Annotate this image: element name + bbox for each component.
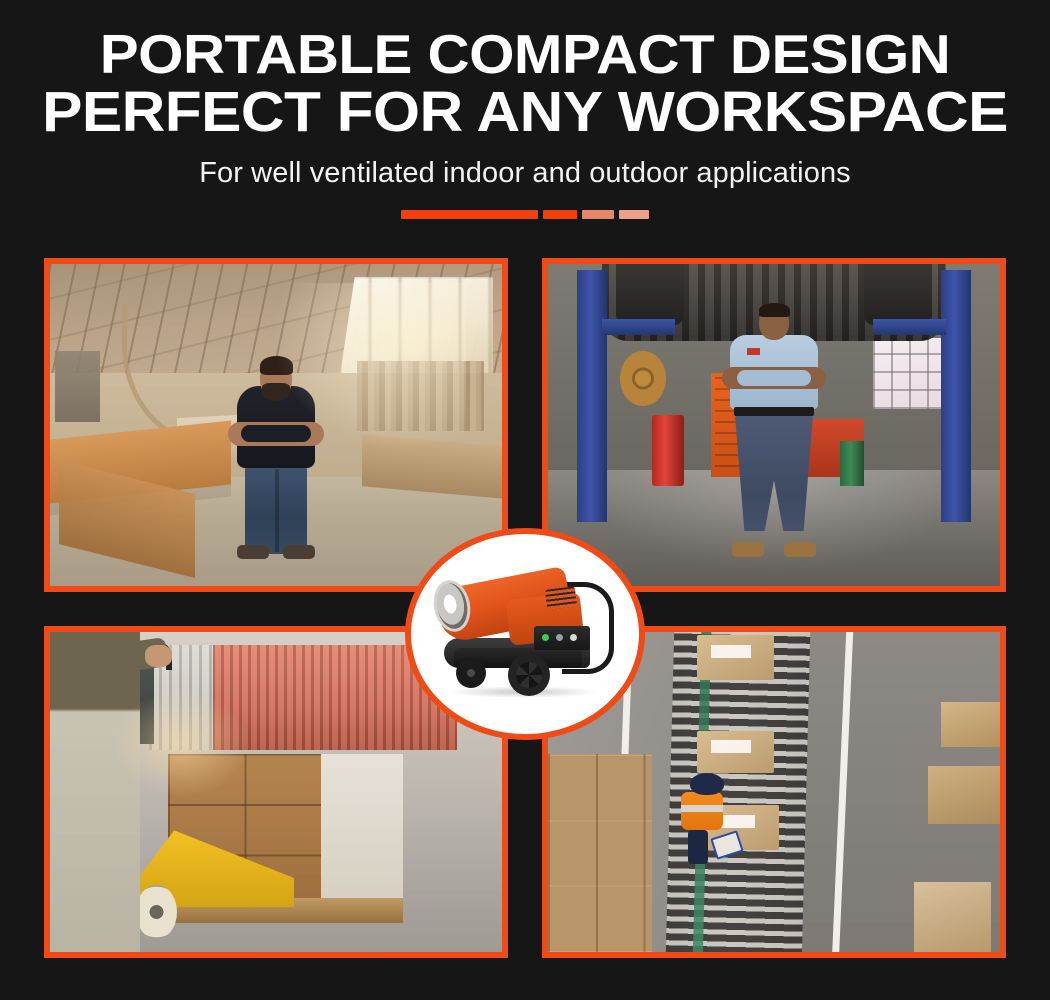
headline-line-2: PERFECT FOR ANY WORKSPACE <box>0 83 1050 142</box>
subheadline: For well ventilated indoor and outdoor a… <box>0 157 1050 190</box>
photo-workshop-image <box>50 264 502 586</box>
product-diesel-heater <box>430 574 620 694</box>
photo-auto-repair-image <box>548 264 1000 586</box>
product-hero-circle <box>405 528 645 740</box>
header: PORTABLE COMPACT DESIGN PERFECT FOR ANY … <box>0 0 1050 219</box>
photo-workshop <box>44 258 508 592</box>
divider-segment-faded-1 <box>582 210 614 219</box>
divider-segment-secondary <box>543 210 577 219</box>
photo-auto-repair <box>542 258 1006 592</box>
heater-control-panel <box>534 626 590 650</box>
divider-segment-faded-2 <box>619 210 649 219</box>
headline-line-1: PORTABLE COMPACT DESIGN <box>0 26 1050 83</box>
decorative-divider <box>0 210 1050 219</box>
divider-segment-primary <box>401 210 538 219</box>
